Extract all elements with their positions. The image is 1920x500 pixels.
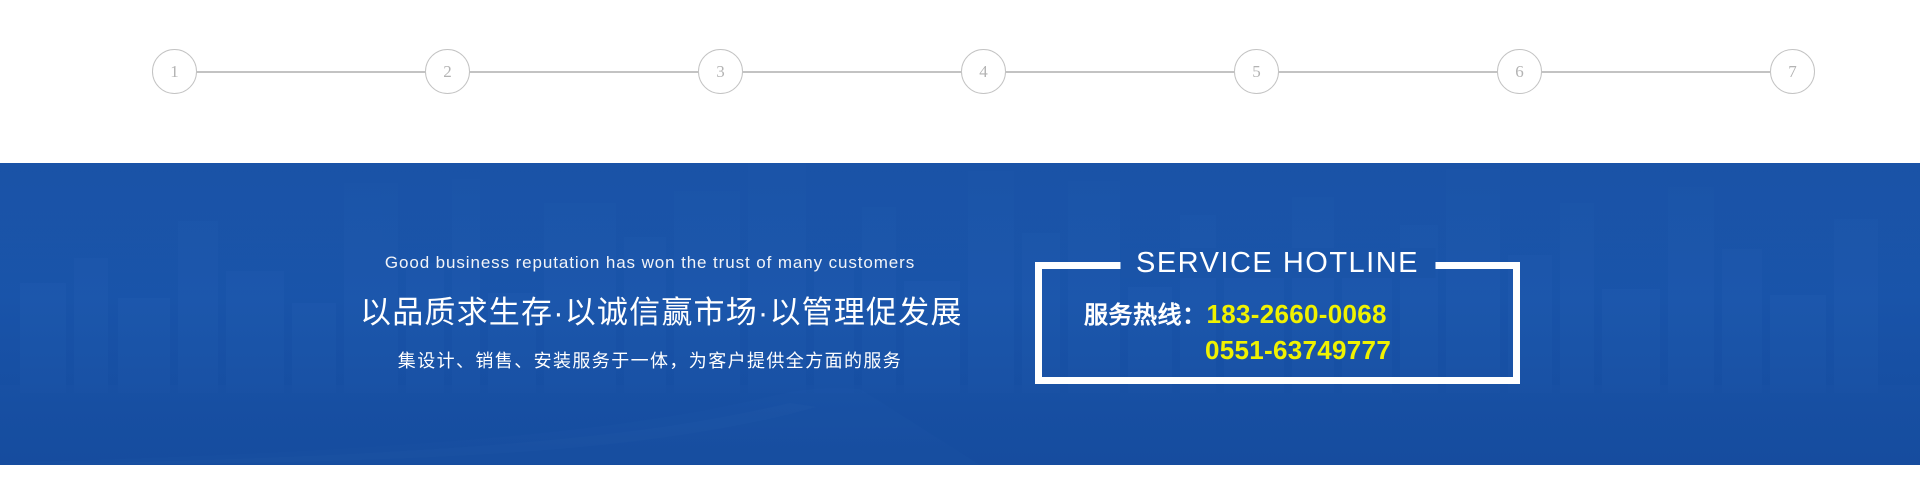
step-circle-2[interactable]: 2 (425, 49, 470, 94)
step-circle-3[interactable]: 3 (698, 49, 743, 94)
page-root: 1 2 3 4 5 6 7 (0, 0, 1920, 500)
hotline-number-secondary[interactable]: 0551-63749777 (1205, 335, 1391, 366)
step-indicator: 1 2 3 4 5 6 7 (0, 0, 1920, 163)
step-label: 1 (170, 62, 179, 82)
slogan-block: Good business reputation has won the tru… (360, 253, 940, 373)
hotline-row-primary: 服务热线： 183-2660-0068 (1042, 295, 1513, 330)
hotline-numbers: 服务热线： 183-2660-0068 0551-63749777 (1042, 295, 1513, 366)
step-label: 4 (979, 62, 988, 82)
slogan-subtitle: 集设计、销售、安装服务于一体，为客户提供全方面的服务 (360, 347, 940, 373)
promo-banner: Good business reputation has won the tru… (0, 163, 1920, 465)
step-label: 3 (716, 62, 725, 82)
step-circle-4[interactable]: 4 (961, 49, 1006, 94)
hotline-number-primary[interactable]: 183-2660-0068 (1207, 299, 1387, 330)
step-circle-5[interactable]: 5 (1234, 49, 1279, 94)
step-label: 7 (1788, 62, 1797, 82)
step-label: 6 (1515, 62, 1524, 82)
hotline-label: 服务热线： (1084, 295, 1207, 330)
service-hotline-box: SERVICE HOTLINE 服务热线： 183-2660-0068 0551… (1035, 262, 1520, 384)
hotline-title: SERVICE HOTLINE (1120, 248, 1435, 278)
step-circle-7[interactable]: 7 (1770, 49, 1815, 94)
step-circle-6[interactable]: 6 (1497, 49, 1542, 94)
slogan-headline: 以品质求生存·以诚信赢市场·以管理促发展 (360, 287, 940, 332)
step-circle-1[interactable]: 1 (152, 49, 197, 94)
hotline-row-secondary: 0551-63749777 (1042, 335, 1513, 366)
step-label: 5 (1252, 62, 1261, 82)
slogan-english: Good business reputation has won the tru… (360, 253, 940, 273)
step-label: 2 (443, 62, 452, 82)
